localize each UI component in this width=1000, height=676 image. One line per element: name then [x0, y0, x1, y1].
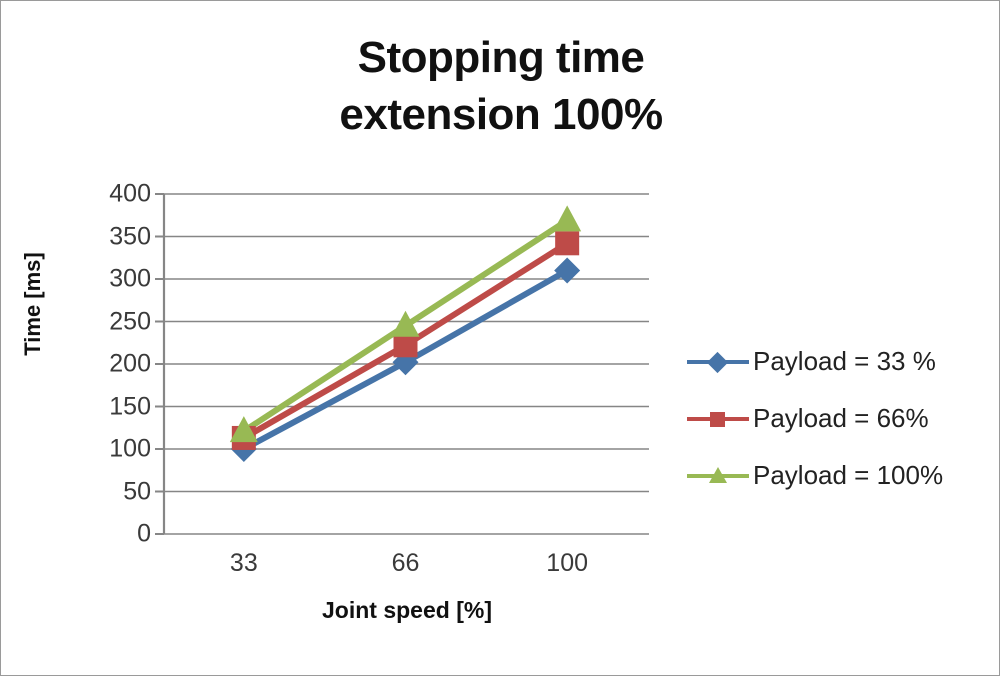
- x-axis-tick-labels: 3366100: [164, 549, 650, 589]
- data-point-marker-triangle: [553, 205, 581, 231]
- x-tick-label: 66: [392, 549, 420, 578]
- legend-item-2[interactable]: Payload = 66%: [687, 390, 987, 447]
- data-point-marker-square: [394, 333, 418, 357]
- chart-screenshot: Stopping time extension 100% 40035030025…: [0, 0, 1000, 676]
- y-tick-label: 150: [79, 392, 151, 421]
- legend-item-3[interactable]: Payload = 100%: [687, 447, 987, 504]
- x-tick-label: 100: [546, 549, 588, 578]
- legend-item-1[interactable]: Payload = 33 %: [687, 333, 987, 390]
- x-axis-title: Joint speed [%]: [164, 597, 650, 624]
- axes-group: [155, 194, 164, 534]
- y-axis-title: Time [ms]: [20, 244, 46, 364]
- legend-key: [687, 406, 749, 432]
- legend-item-label: Payload = 33 %: [749, 346, 936, 377]
- legend-key: [687, 349, 749, 375]
- y-tick-label: 100: [79, 435, 151, 464]
- data-point-marker-square: [555, 231, 579, 255]
- x-tick-label: 33: [230, 549, 258, 578]
- y-tick-label: 350: [79, 222, 151, 251]
- legend-item-label: Payload = 100%: [749, 460, 943, 491]
- diamond-marker-icon: [707, 351, 728, 372]
- y-tick-label: 200: [79, 350, 151, 379]
- y-tick-label: 250: [79, 307, 151, 336]
- y-tick-label: 50: [79, 477, 151, 506]
- triangle-marker-icon: [709, 467, 727, 483]
- y-tick-label: 400: [79, 180, 151, 209]
- chart-legend: Payload = 33 %Payload = 66%Payload = 100…: [687, 333, 987, 504]
- y-axis-tick-labels: 400350300250200150100500: [79, 1, 151, 676]
- y-tick-label: 300: [79, 265, 151, 294]
- square-marker-icon: [710, 412, 725, 427]
- y-tick-label: 0: [79, 520, 151, 549]
- legend-key: [687, 463, 749, 489]
- data-point-marker-triangle: [392, 311, 420, 337]
- legend-item-label: Payload = 66%: [749, 403, 929, 434]
